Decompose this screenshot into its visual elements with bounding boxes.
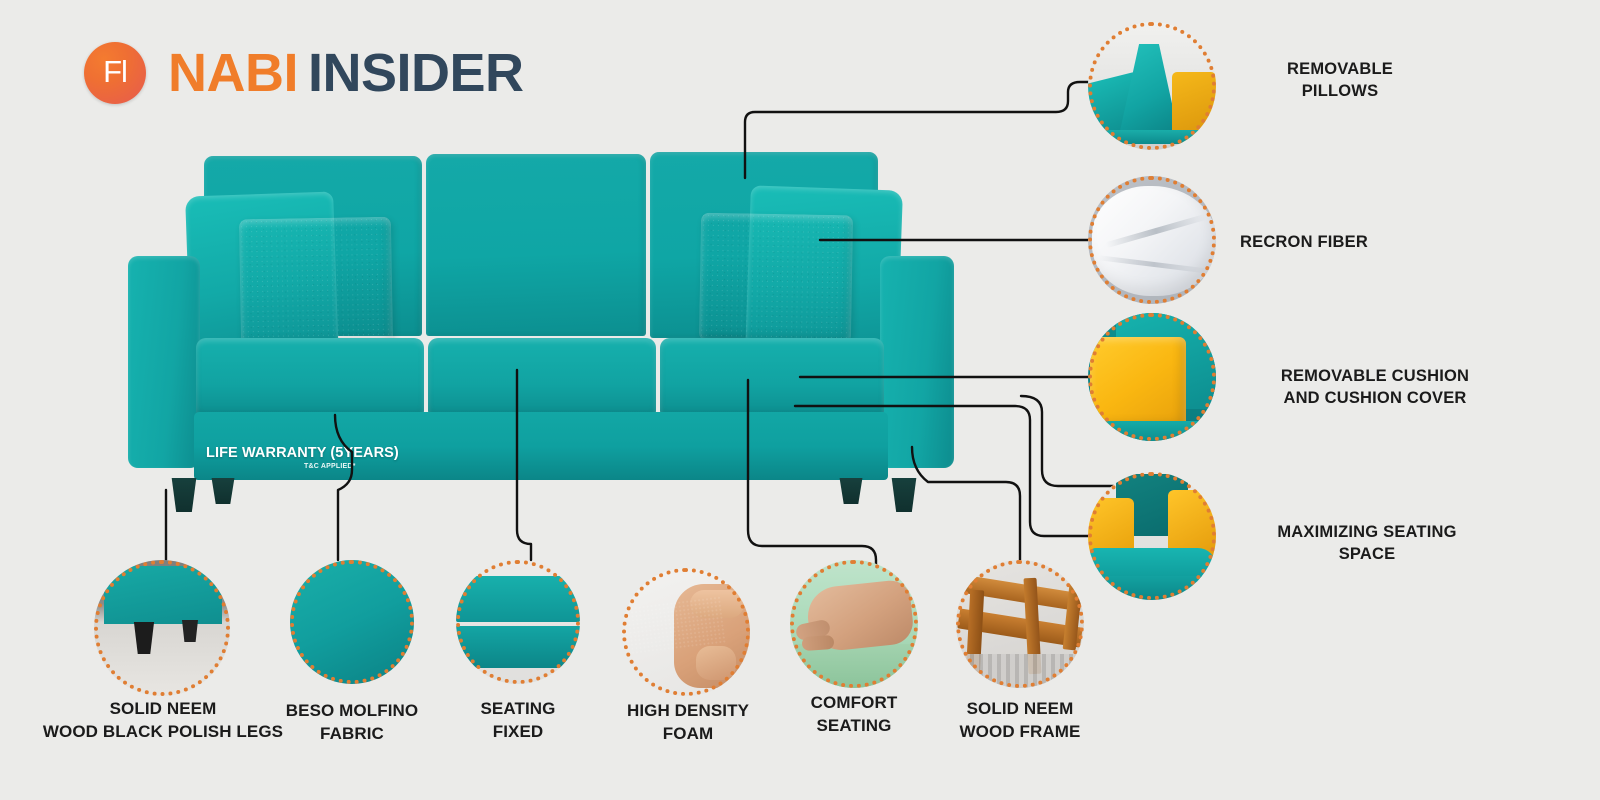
label-line: PILLOWS bbox=[1240, 80, 1440, 102]
sofa-seat-cushion-center bbox=[428, 338, 656, 416]
label-line: REMOVABLE CUSHION bbox=[1230, 365, 1520, 387]
hand-holding-black-foam-photo bbox=[622, 568, 750, 696]
label-removable-pillows: REMOVABLE PILLOWS bbox=[1240, 58, 1440, 103]
brand-wordmark: NABIINSIDER bbox=[168, 46, 524, 100]
brand-word-insider: INSIDER bbox=[308, 43, 524, 103]
sofa-leg-back-left bbox=[210, 478, 236, 504]
label-line: SPACE bbox=[1222, 543, 1512, 565]
callout-high-density-foam-image[interactable] bbox=[622, 568, 750, 696]
accent-pillow-right bbox=[699, 213, 853, 344]
sofa-leg-front-right bbox=[890, 478, 918, 512]
sofa-leg-on-floor-photo bbox=[94, 560, 230, 696]
yellow-cushion-photo bbox=[1088, 313, 1216, 441]
infographic-canvas: Fl NABIINSIDER LIFE WARRA bbox=[0, 0, 1600, 800]
label-recron-fiber: RECRON FIBER bbox=[1240, 231, 1450, 253]
label-line: AND CUSHION COVER bbox=[1230, 387, 1520, 409]
sofa-seat-cushion-right bbox=[660, 338, 884, 416]
nabi-logo-icon: Fl bbox=[84, 42, 146, 104]
sofa-back-cushion-center bbox=[426, 154, 646, 336]
accent-pillow-left bbox=[239, 217, 393, 348]
sofa-base bbox=[194, 412, 888, 480]
label-line: MAXIMIZING SEATING bbox=[1222, 521, 1512, 543]
sofa-seat-cushion-left bbox=[196, 338, 424, 416]
sofa-back-pillow-photo bbox=[1088, 22, 1216, 150]
callout-removable-pillows-image[interactable] bbox=[1088, 22, 1216, 150]
label-removable-cushion: REMOVABLE CUSHION AND CUSHION COVER bbox=[1230, 365, 1520, 410]
label-line: SOLID NEEM bbox=[914, 698, 1126, 721]
fixed-seat-edge-photo bbox=[456, 560, 580, 684]
sofa-arm-right bbox=[880, 256, 954, 468]
callout-solid-neem-frame-image[interactable] bbox=[956, 560, 1084, 688]
brand-word-nabi: NABI bbox=[168, 43, 298, 103]
logo-monogram: Fl bbox=[84, 42, 146, 104]
callout-maximizing-seating-image[interactable] bbox=[1088, 472, 1216, 600]
hand-pressing-green-foam-photo bbox=[790, 560, 918, 688]
sofa-leg-back-right bbox=[838, 478, 864, 504]
brand-logo: Fl NABIINSIDER bbox=[84, 42, 524, 104]
sofa-illustration: LIFE WARRANTY (5YEARS) T&C APPLIED* bbox=[128, 148, 954, 508]
wooden-frame-springs-photo bbox=[956, 560, 1084, 688]
callout-comfort-seating-image[interactable] bbox=[790, 560, 918, 688]
label-line: WOOD FRAME bbox=[914, 721, 1126, 744]
callout-removable-cushion-image[interactable] bbox=[1088, 313, 1216, 441]
label-line: RECRON FIBER bbox=[1240, 231, 1450, 253]
teal-fabric-swatch-photo bbox=[290, 560, 414, 684]
label-solid-neem-frame: SOLID NEEM WOOD FRAME bbox=[914, 698, 1126, 744]
sofa-arm-left bbox=[128, 256, 200, 468]
label-maximizing-seating: MAXIMIZING SEATING SPACE bbox=[1222, 521, 1512, 566]
sofa-leg-front-left bbox=[170, 478, 198, 512]
callout-solid-neem-legs-image[interactable] bbox=[94, 560, 230, 696]
sofa-corner-seat-photo bbox=[1088, 472, 1216, 600]
white-fiber-fill-photo bbox=[1088, 176, 1216, 304]
callout-seating-fixed-image[interactable] bbox=[456, 560, 580, 684]
label-line: REMOVABLE bbox=[1240, 58, 1440, 80]
callout-beso-molfino-image[interactable] bbox=[290, 560, 414, 684]
callout-recron-fiber-image[interactable] bbox=[1088, 176, 1216, 304]
